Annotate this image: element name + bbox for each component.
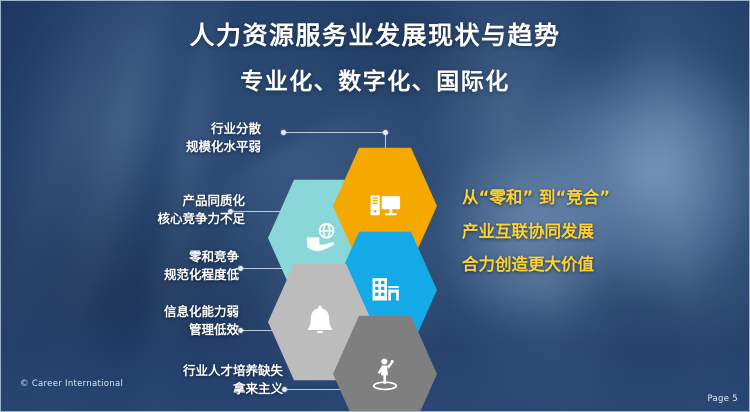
copyright-notice: © Career International xyxy=(20,379,123,389)
callout-label-2-line1: 产品同质化 xyxy=(182,193,245,208)
callout-label-4-line2: 管理低效 xyxy=(164,321,239,339)
callout-label-1: 行业分散 规模化水平弱 xyxy=(186,120,261,156)
callout-label-1-line2: 规模化水平弱 xyxy=(186,138,261,156)
copyright-icon: © xyxy=(20,379,29,389)
highlight-line-1: 从“零和” 到“竞合” xyxy=(462,190,610,207)
callout-label-3-line2: 规范化程度低 xyxy=(164,266,239,284)
highlight-line-2: 产业互联协同发展 xyxy=(462,224,610,241)
highlight-line-3: 合力创造更大价值 xyxy=(462,257,610,274)
callout-label-2: 产品同质化 核心竞争力不足 xyxy=(157,192,245,228)
connector-dot-1-start xyxy=(281,130,286,135)
callout-label-3: 零和竞争 规范化程度低 xyxy=(164,248,239,284)
callout-label-2-line2: 核心竞争力不足 xyxy=(157,210,245,228)
callout-label-5-line1: 行业人才培养缺失 xyxy=(183,363,283,378)
person-presenter-icon xyxy=(364,353,406,395)
callout-label-1-line1: 行业分散 xyxy=(211,121,261,136)
callout-label-4: 信息化能力弱 管理低效 xyxy=(164,303,239,339)
page-subtitle: 专业化、数字化、国际化 xyxy=(0,70,750,95)
connector-line-1 xyxy=(284,132,386,133)
hand-globe-icon xyxy=(299,217,341,259)
page-number: Page 5 xyxy=(708,394,739,404)
copyright-text: Career International xyxy=(32,379,123,389)
bell-icon xyxy=(299,301,341,343)
title-block: 人力资源服务业发展现状与趋势 专业化、数字化、国际化 xyxy=(0,22,750,95)
page-title: 人力资源服务业发展现状与趋势 xyxy=(0,22,750,50)
callout-label-5: 行业人才培养缺失 拿来主义 xyxy=(183,362,283,398)
desktop-computer-icon xyxy=(364,185,406,227)
callout-label-3-line1: 零和竞争 xyxy=(189,249,239,264)
highlight-text-block: 从“零和” 到“竞合” 产业互联协同发展 合力创造更大价值 xyxy=(462,190,610,274)
office-building-icon xyxy=(364,269,406,311)
slide-canvas: 人力资源服务业发展现状与趋势 专业化、数字化、国际化 行业分散 规模化水平弱 产… xyxy=(0,0,750,412)
callout-label-4-line1: 信息化能力弱 xyxy=(164,304,239,319)
callout-label-5-line2: 拿来主义 xyxy=(183,380,283,398)
